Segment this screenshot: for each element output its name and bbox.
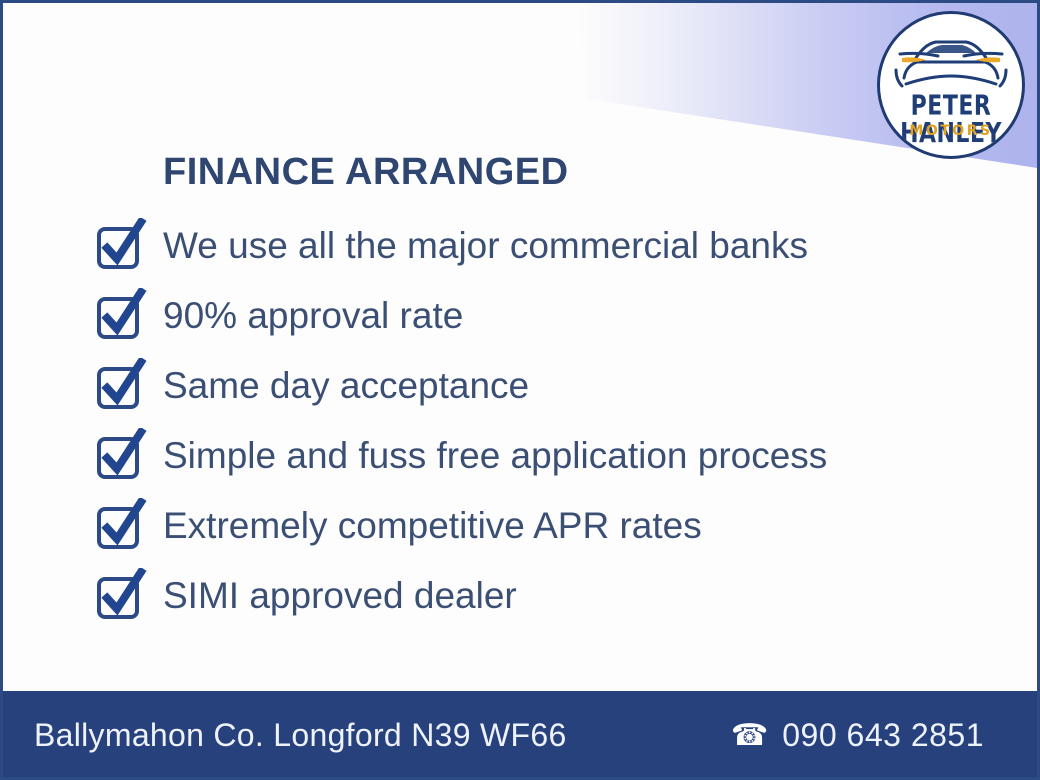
list-item-label: Same day acceptance <box>163 367 529 404</box>
list-item: Extremely competitive APR rates <box>95 490 997 560</box>
list-item-label: Extremely competitive APR rates <box>163 507 702 544</box>
checkbox-checked-icon <box>95 288 149 342</box>
feature-checklist: We use all the major commercial banks 90… <box>95 210 997 630</box>
telephone-icon: ☎ <box>731 721 768 751</box>
checkbox-checked-icon <box>95 218 149 272</box>
list-item-label: Simple and fuss free application process <box>163 437 827 474</box>
checkbox-checked-icon <box>95 358 149 412</box>
logo-name: PETER HANLEY <box>880 93 1022 148</box>
phone-number[interactable]: 090 643 2851 <box>782 717 984 754</box>
list-item-label: We use all the major commercial banks <box>163 227 808 264</box>
list-item: Simple and fuss free application process <box>95 420 997 490</box>
logo-subtitle: MOTORS <box>880 124 1022 138</box>
list-item-label: 90% approval rate <box>163 297 463 334</box>
page-title: FINANCE ARRANGED <box>163 151 569 194</box>
dealer-logo-badge: PETER HANLEY MOTORS <box>877 11 1025 159</box>
phone-contact[interactable]: ☎ 090 643 2851 <box>731 717 1006 754</box>
list-item: 90% approval rate <box>95 280 997 350</box>
list-item: We use all the major commercial banks <box>95 210 997 280</box>
dealer-address: Ballymahon Co. Longford N39 WF66 <box>34 717 567 754</box>
list-item: Same day acceptance <box>95 350 997 420</box>
car-front-badge-icon <box>890 28 1012 90</box>
list-item-label: SIMI approved dealer <box>163 577 517 614</box>
checkbox-checked-icon <box>95 428 149 482</box>
contact-footer-bar: Ballymahon Co. Longford N39 WF66 ☎ 090 6… <box>0 691 1040 780</box>
checkbox-checked-icon <box>95 568 149 622</box>
checkbox-checked-icon <box>95 498 149 552</box>
finance-advert-card: PETER HANLEY MOTORS FINANCE ARRANGED We … <box>0 0 1040 780</box>
list-item: SIMI approved dealer <box>95 560 997 630</box>
